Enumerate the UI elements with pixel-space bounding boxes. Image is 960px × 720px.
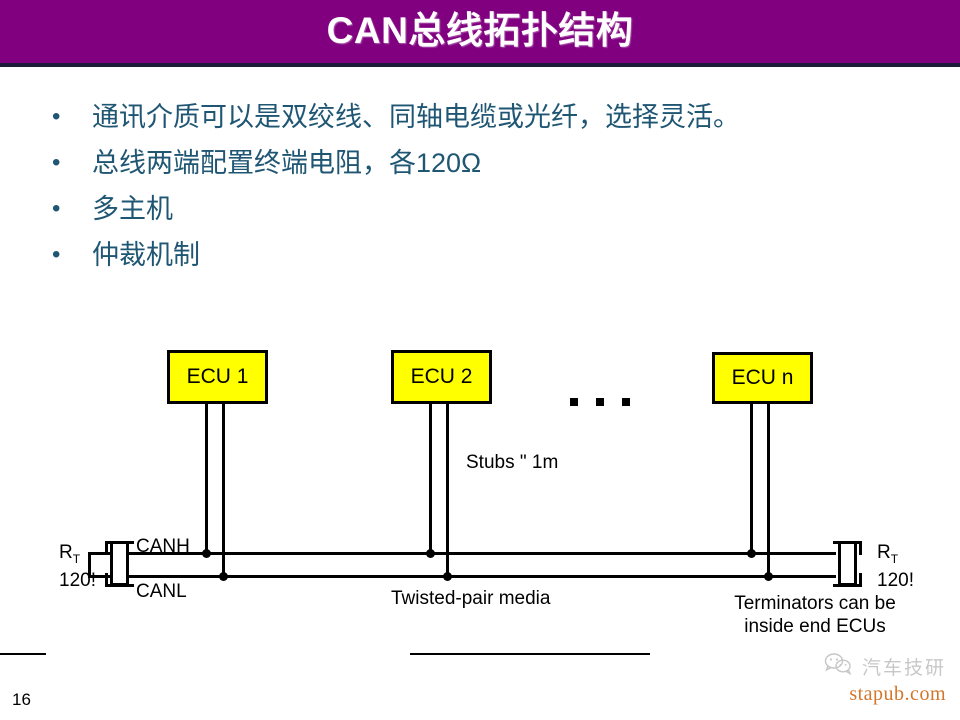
- bus-node-dot: [426, 549, 435, 558]
- twisted-pair-media-label: Twisted-pair media: [391, 588, 550, 610]
- bus-node-dot: [202, 549, 211, 558]
- stub-line-ecu1-canh: [205, 404, 208, 554]
- terminator-note-line1: Terminators can be: [734, 593, 896, 614]
- ecu-box-label-1: ECU 1: [187, 365, 249, 389]
- terminator-right-cap-bottom: [833, 584, 862, 587]
- terminator-left-wire-canl: [88, 575, 108, 578]
- ecu-box-1: ECU 1: [167, 350, 268, 404]
- terminator-left-bridge: [88, 552, 91, 578]
- terminator-right-lead-bottom: [859, 573, 862, 587]
- terminator-left-value: 120!: [59, 570, 96, 591]
- terminator-left-lead-bottom: [105, 573, 108, 587]
- terminator-right-symbol: R: [877, 542, 891, 563]
- terminator-left-subscript: T: [73, 552, 80, 566]
- terminator-left-wire-canh: [88, 552, 108, 555]
- bullet-list: • 通讯介质可以是双绞线、同轴电缆或光纤，选择灵活。 • 总线两端配置终端电阻，…: [52, 100, 932, 284]
- watermark-site: stapub.com: [756, 683, 946, 706]
- bullet-marker-icon: •: [52, 100, 92, 134]
- terminator-left-label: RT 120!: [59, 542, 96, 592]
- wechat-icon: [824, 652, 854, 681]
- bullet-text-3: 多主机: [92, 192, 173, 226]
- ellipsis-dot-icon: [622, 398, 630, 406]
- stub-length-label: Stubs " 1m: [466, 452, 558, 474]
- bullet-marker-icon: •: [52, 238, 92, 272]
- terminator-right-cap-top: [833, 541, 862, 544]
- bus-node-dot: [219, 572, 228, 581]
- ellipsis-dot-icon: [596, 398, 604, 406]
- bus-line-canh: [88, 552, 836, 555]
- stub-line-ecu2-canl: [446, 404, 449, 577]
- bullet-marker-icon: •: [52, 146, 92, 180]
- bullet-item-4: • 仲裁机制: [52, 238, 932, 272]
- bus-node-dot: [747, 549, 756, 558]
- terminator-resistor-left: [110, 541, 129, 586]
- watermark-row: 汽车技研: [756, 652, 946, 681]
- ecu-box-n: ECU n: [712, 352, 813, 404]
- bullet-text-4: 仲裁机制: [92, 238, 200, 272]
- terminator-resistor-right: [838, 541, 857, 586]
- ecu-box-label-n: ECU n: [732, 366, 794, 390]
- bullet-text-2: 总线两端配置终端电阻，各120Ω: [92, 146, 481, 180]
- bullet-item-1: • 通讯介质可以是双绞线、同轴电缆或光纤，选择灵活。: [52, 100, 932, 134]
- stub-line-ecu2-canh: [429, 404, 432, 554]
- page-title: CAN总线拓扑结构: [0, 7, 960, 55]
- stub-line-ecu1-canl: [222, 404, 225, 577]
- bus-line-canl: [88, 575, 836, 578]
- slide-canvas: CAN总线拓扑结构 • 通讯介质可以是双绞线、同轴电缆或光纤，选择灵活。 • 总…: [0, 0, 960, 720]
- stub-line-ecun-canl: [767, 404, 770, 577]
- ellipsis-dot-icon: [570, 398, 578, 406]
- terminator-note: Terminators can be inside end ECUs: [715, 592, 915, 638]
- ecu-box-2: ECU 2: [391, 350, 492, 404]
- bullet-item-2: • 总线两端配置终端电阻，各120Ω: [52, 146, 932, 180]
- terminator-left-lead-top: [105, 541, 108, 555]
- watermark: 汽车技研 stapub.com: [756, 652, 946, 706]
- bullet-text-1: 通讯介质可以是双绞线、同轴电缆或光纤，选择灵活。: [92, 100, 740, 134]
- terminator-left-cap-bottom: [105, 584, 134, 587]
- title-underline: [0, 63, 960, 67]
- terminator-note-line2: inside end ECUs: [744, 616, 886, 637]
- watermark-name: 汽车技研: [862, 653, 946, 680]
- ecu-box-label-2: ECU 2: [411, 365, 473, 389]
- terminator-left-cap-top: [105, 541, 134, 544]
- bullet-item-3: • 多主机: [52, 192, 932, 226]
- bus-node-dot: [443, 572, 452, 581]
- canh-label: CANH: [136, 536, 190, 558]
- footer-divider-center: [410, 653, 650, 655]
- canl-label: CANL: [136, 581, 187, 603]
- bus-node-dot: [764, 572, 773, 581]
- page-number: 16: [12, 690, 31, 710]
- terminator-right-label: RT 120!: [877, 542, 914, 592]
- bullet-marker-icon: •: [52, 192, 92, 226]
- terminator-right-lead-top: [859, 541, 862, 555]
- terminator-left-symbol: R: [59, 542, 73, 563]
- terminator-right-value: 120!: [877, 570, 914, 591]
- terminator-right-subscript: T: [891, 552, 898, 566]
- footer-divider-left: [0, 653, 46, 655]
- stub-line-ecun-canh: [750, 404, 753, 554]
